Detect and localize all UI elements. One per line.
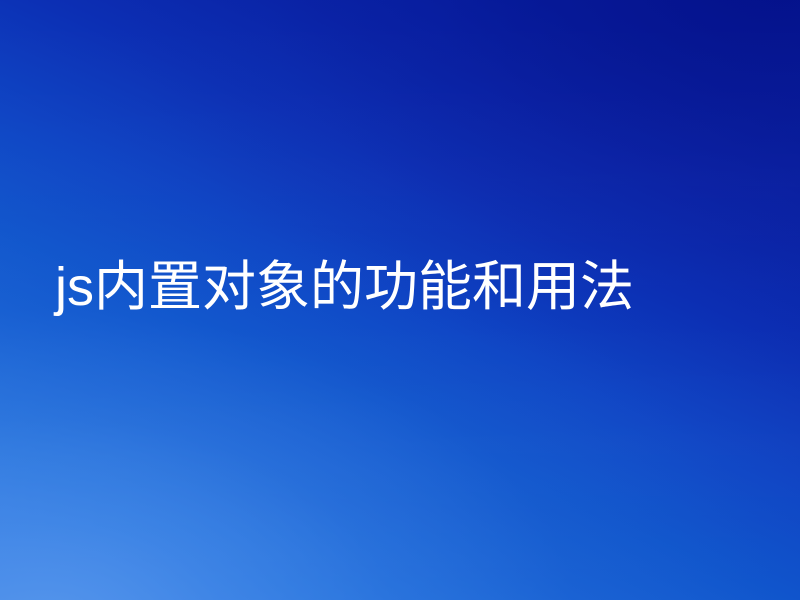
page-title: js内置对象的功能和用法 [0, 257, 674, 317]
cover-card: js内置对象的功能和用法 [0, 0, 800, 600]
title-layer: js内置对象的功能和用法 [0, 0, 800, 600]
